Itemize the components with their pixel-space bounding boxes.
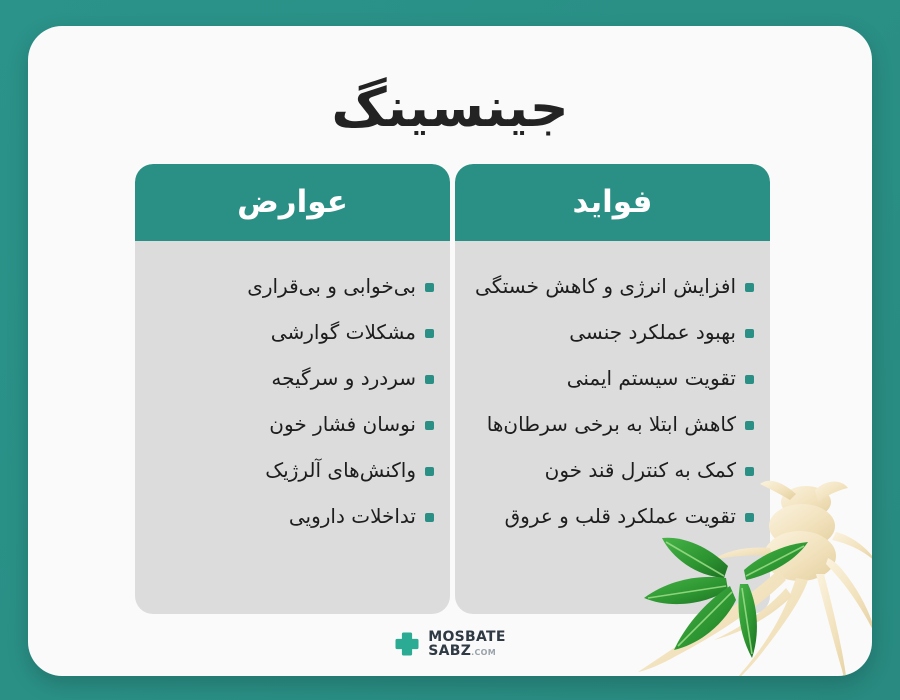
column-benefits-header: فواید [455, 164, 770, 241]
list-item: واکنش‌های آلرژیک [151, 447, 434, 493]
list-item: کمک به کنترل قند خون [471, 447, 754, 493]
list-item: تقویت عملکرد قلب و عروق [471, 493, 754, 539]
teal-frame-background: جینسینگ فواید افزایش انرژی و کاهش خستگی … [0, 0, 900, 700]
list-item-label: تقویت عملکرد قلب و عروق [505, 503, 736, 530]
list-item: سردرد و سرگیجه [151, 355, 434, 401]
list-item-label: افزایش انرژی و کاهش خستگی [475, 273, 736, 300]
list-item-label: بی‌خوابی و بی‌قراری [247, 273, 416, 300]
bullet-square-icon [745, 283, 754, 292]
column-benefits-header-label: فواید [573, 187, 653, 218]
logo-line-2: SABZ [428, 643, 471, 659]
bullet-square-icon [745, 421, 754, 430]
list-item-label: نوسان فشار خون [269, 411, 416, 438]
medical-cross-icon [394, 631, 420, 657]
benefits-list: افزایش انرژی و کاهش خستگی بهبود عملکرد ج… [455, 241, 770, 539]
bullet-square-icon [745, 329, 754, 338]
infographic-card: جینسینگ فواید افزایش انرژی و کاهش خستگی … [28, 26, 872, 676]
column-side-effects: عوارض بی‌خوابی و بی‌قراری مشکلات گوارشی … [135, 164, 450, 614]
list-item-label: کمک به کنترل قند خون [545, 457, 736, 484]
list-item-label: تداخلات دارویی [289, 503, 416, 530]
column-benefits: فواید افزایش انرژی و کاهش خستگی بهبود عم… [455, 164, 770, 614]
list-item: تداخلات دارویی [151, 493, 434, 539]
list-item: بی‌خوابی و بی‌قراری [151, 263, 434, 309]
list-item-label: سردرد و سرگیجه [271, 365, 416, 392]
site-logo: MOSBATE SABZ.COM [28, 630, 872, 658]
list-item-label: تقویت سیستم ایمنی [567, 365, 736, 392]
list-item: نوسان فشار خون [151, 401, 434, 447]
logo-wordmark: MOSBATE SABZ.COM [428, 630, 506, 658]
page-title: جینسینگ [28, 78, 872, 137]
list-item-label: کاهش ابتلا به برخی سرطان‌ها [487, 411, 736, 438]
list-item-label: مشکلات گوارشی [271, 319, 416, 346]
bullet-square-icon [745, 375, 754, 384]
side-effects-list: بی‌خوابی و بی‌قراری مشکلات گوارشی سردرد … [135, 241, 450, 539]
list-item: بهبود عملکرد جنسی [471, 309, 754, 355]
list-item-label: واکنش‌های آلرژیک [265, 457, 416, 484]
list-item: مشکلات گوارشی [151, 309, 434, 355]
bullet-square-icon [425, 513, 434, 522]
column-side-effects-header-label: عوارض [237, 187, 348, 218]
bullet-square-icon [745, 513, 754, 522]
list-item: افزایش انرژی و کاهش خستگی [471, 263, 754, 309]
bullet-square-icon [425, 283, 434, 292]
logo-line-1: MOSBATE [428, 630, 506, 644]
column-side-effects-header: عوارض [135, 164, 450, 241]
bullet-square-icon [745, 467, 754, 476]
bullet-square-icon [425, 467, 434, 476]
logo-domain-suffix: .COM [471, 648, 496, 657]
list-item-label: بهبود عملکرد جنسی [569, 319, 736, 346]
bullet-square-icon [425, 375, 434, 384]
list-item: کاهش ابتلا به برخی سرطان‌ها [471, 401, 754, 447]
bullet-square-icon [425, 421, 434, 430]
bullet-square-icon [425, 329, 434, 338]
list-item: تقویت سیستم ایمنی [471, 355, 754, 401]
